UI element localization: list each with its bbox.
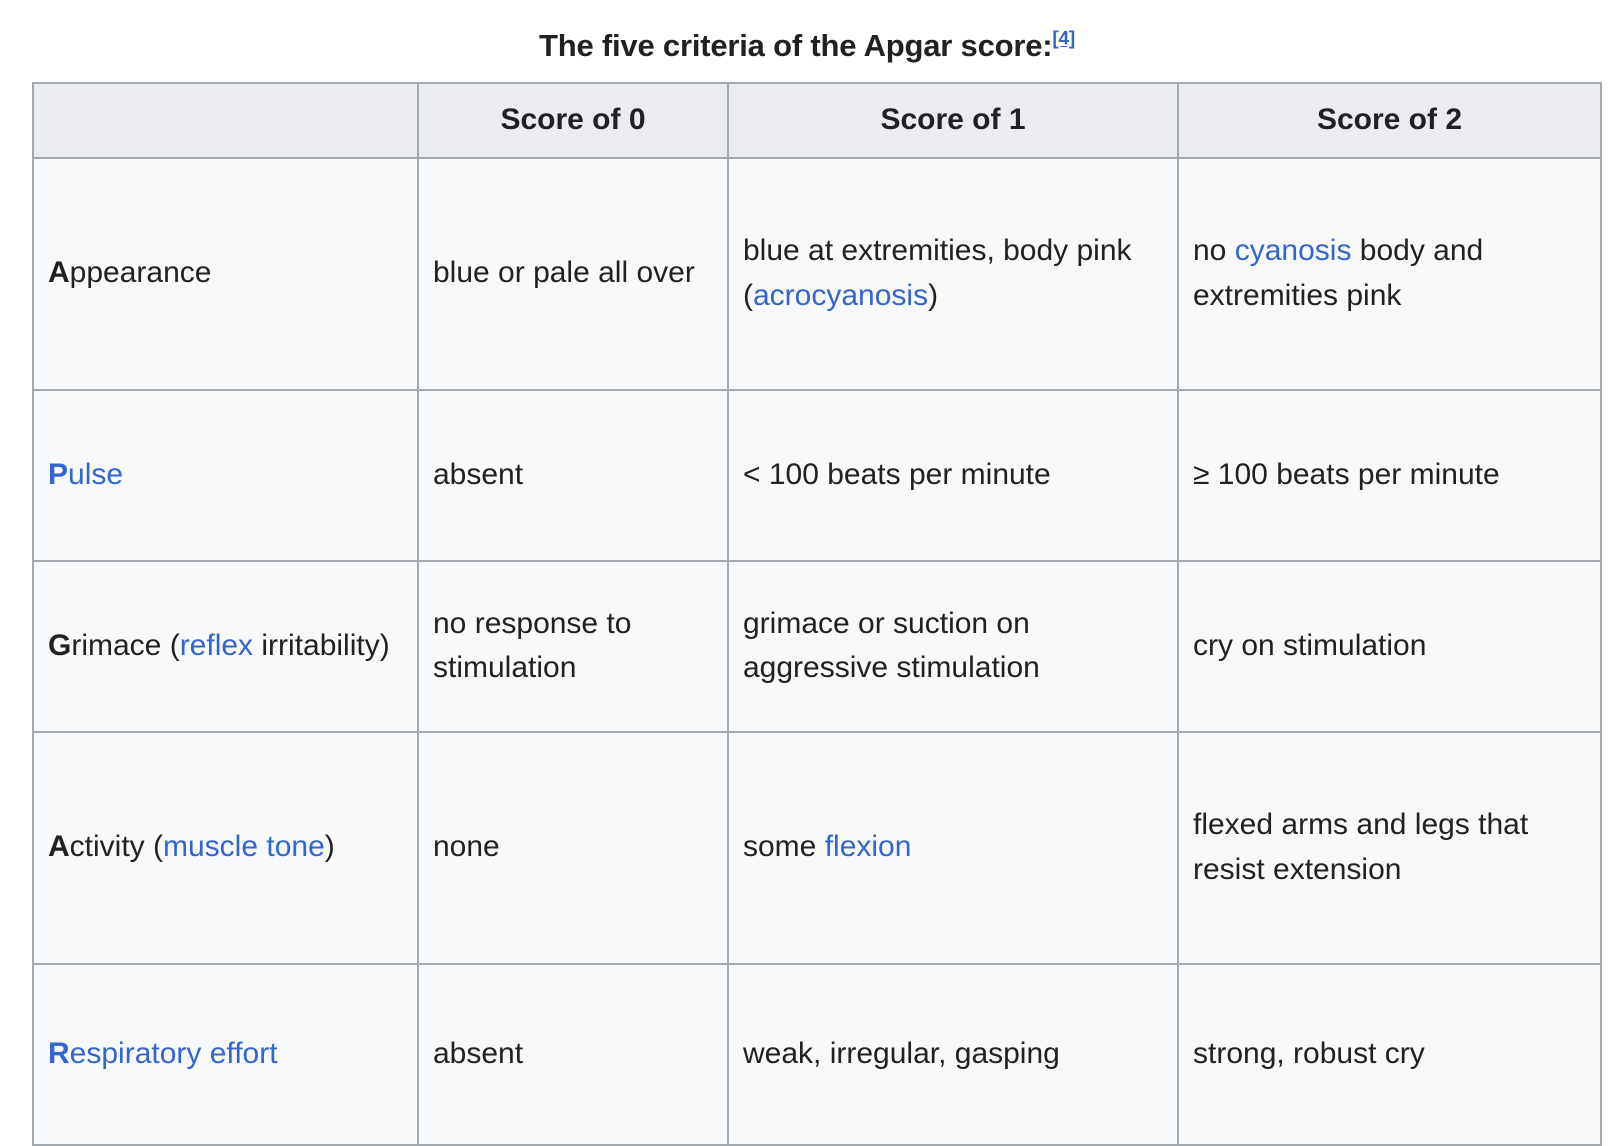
score2-text-before: cry on stimulation [1193, 629, 1426, 662]
score0-cell-pulse: absent [418, 390, 728, 561]
criterion-mnemonic-letter: G [48, 629, 71, 662]
criterion-mnemonic-letter: P [48, 458, 68, 491]
criterion-cell-grimace: Grimace (reflex irritability) [33, 561, 418, 732]
score1-cell-pulse: < 100 beats per minute [728, 390, 1178, 561]
score1-text-before: some [743, 830, 825, 863]
score1-cell-activity: some flexion [728, 732, 1178, 964]
score2-cell-appearance: no cyanosis body and extremities pink [1178, 158, 1601, 390]
criterion-label: Appearance [48, 256, 211, 289]
score2-text-before: strong, robust cry [1193, 1037, 1425, 1070]
table-row: Pulse absent < 100 beats per minute ≥ 10… [33, 390, 1601, 561]
score1-text-before: weak, irregular, gasping [743, 1037, 1060, 1070]
criterion-name[interactable]: espiratory effort [70, 1037, 278, 1070]
score2-cell-respiratory: strong, robust cry [1178, 964, 1601, 1145]
criterion-label: Pulse [48, 458, 123, 491]
criterion-label: Grimace (reflex irritability) [48, 629, 390, 662]
table-row: Activity (muscle tone) none some flexion… [33, 732, 1601, 964]
score2-text-before: ≥ 100 beats per minute [1193, 458, 1500, 491]
criterion-cell-appearance: Appearance [33, 158, 418, 390]
criterion-paren-close: ) [325, 830, 335, 863]
column-header-score-0: Score of 0 [418, 83, 728, 157]
score2-cell-grimace: cry on stimulation [1178, 561, 1601, 732]
criterion-inline-link[interactable]: muscle tone [163, 830, 325, 863]
score2-text-before: flexed arms and legs that resist extensi… [1193, 808, 1528, 885]
table-row: Appearance blue or pale all over blue at… [33, 158, 1601, 390]
score2-cell-activity: flexed arms and legs that resist extensi… [1178, 732, 1601, 964]
score0-cell-appearance: blue or pale all over [418, 158, 728, 390]
criterion-mnemonic-letter: R [48, 1037, 70, 1070]
criterion-mnemonic-letter: A [48, 256, 70, 289]
score1-cell-grimace: grimace or suction on aggressive stimula… [728, 561, 1178, 732]
table-header-row: Score of 0 Score of 1 Score of 2 [33, 83, 1601, 157]
criterion-paren-open: ( [161, 629, 179, 662]
criterion-paren-open: ( [145, 830, 163, 863]
column-header-score-1: Score of 1 [728, 83, 1178, 157]
score1-text-before: grimace or suction on aggressive stimula… [743, 607, 1040, 684]
score1-text-after: ) [928, 279, 938, 312]
column-header-score-2: Score of 2 [1178, 83, 1601, 157]
criterion-cell-activity: Activity (muscle tone) [33, 732, 418, 964]
table-caption: The five criteria of the Apgar score:[4] [0, 0, 1614, 64]
score1-cell-appearance: blue at extremities, body pink (acrocyan… [728, 158, 1178, 390]
table-row: Grimace (reflex irritability) no respons… [33, 561, 1601, 732]
citation-reference-link[interactable]: [4] [1052, 29, 1075, 50]
score0-cell-grimace: no response to stimulation [418, 561, 728, 732]
criterion-name: ppearance [70, 256, 212, 289]
score1-inline-link[interactable]: flexion [825, 830, 912, 863]
criterion-name[interactable]: ulse [68, 458, 123, 491]
criterion-name: rimace [71, 629, 161, 662]
score2-cell-pulse: ≥ 100 beats per minute [1178, 390, 1601, 561]
apgar-criteria-table: Score of 0 Score of 1 Score of 2 Appeara… [32, 82, 1602, 1145]
criterion-label: Respiratory effort [48, 1037, 278, 1070]
table-row: Respiratory effort absent weak, irregula… [33, 964, 1601, 1145]
criterion-cell-respiratory: Respiratory effort [33, 964, 418, 1145]
caption-text: The five criteria of the Apgar score: [539, 28, 1052, 63]
score2-inline-link[interactable]: cyanosis [1235, 234, 1352, 267]
criterion-label: Activity (muscle tone) [48, 830, 335, 863]
score1-cell-respiratory: weak, irregular, gasping [728, 964, 1178, 1145]
score0-cell-respiratory: absent [418, 964, 728, 1145]
criterion-mnemonic-letter: A [48, 830, 70, 863]
criterion-cell-pulse: Pulse [33, 390, 418, 561]
criterion-inline-link[interactable]: reflex [180, 629, 253, 662]
criterion-paren-close: irritability) [253, 629, 390, 662]
score0-cell-activity: none [418, 732, 728, 964]
score2-text-before: no [1193, 234, 1235, 267]
score1-inline-link[interactable]: acrocyanosis [753, 279, 928, 312]
criterion-name: ctivity [70, 830, 145, 863]
score1-text-before: < 100 beats per minute [743, 458, 1051, 491]
column-header-criterion [33, 83, 418, 157]
